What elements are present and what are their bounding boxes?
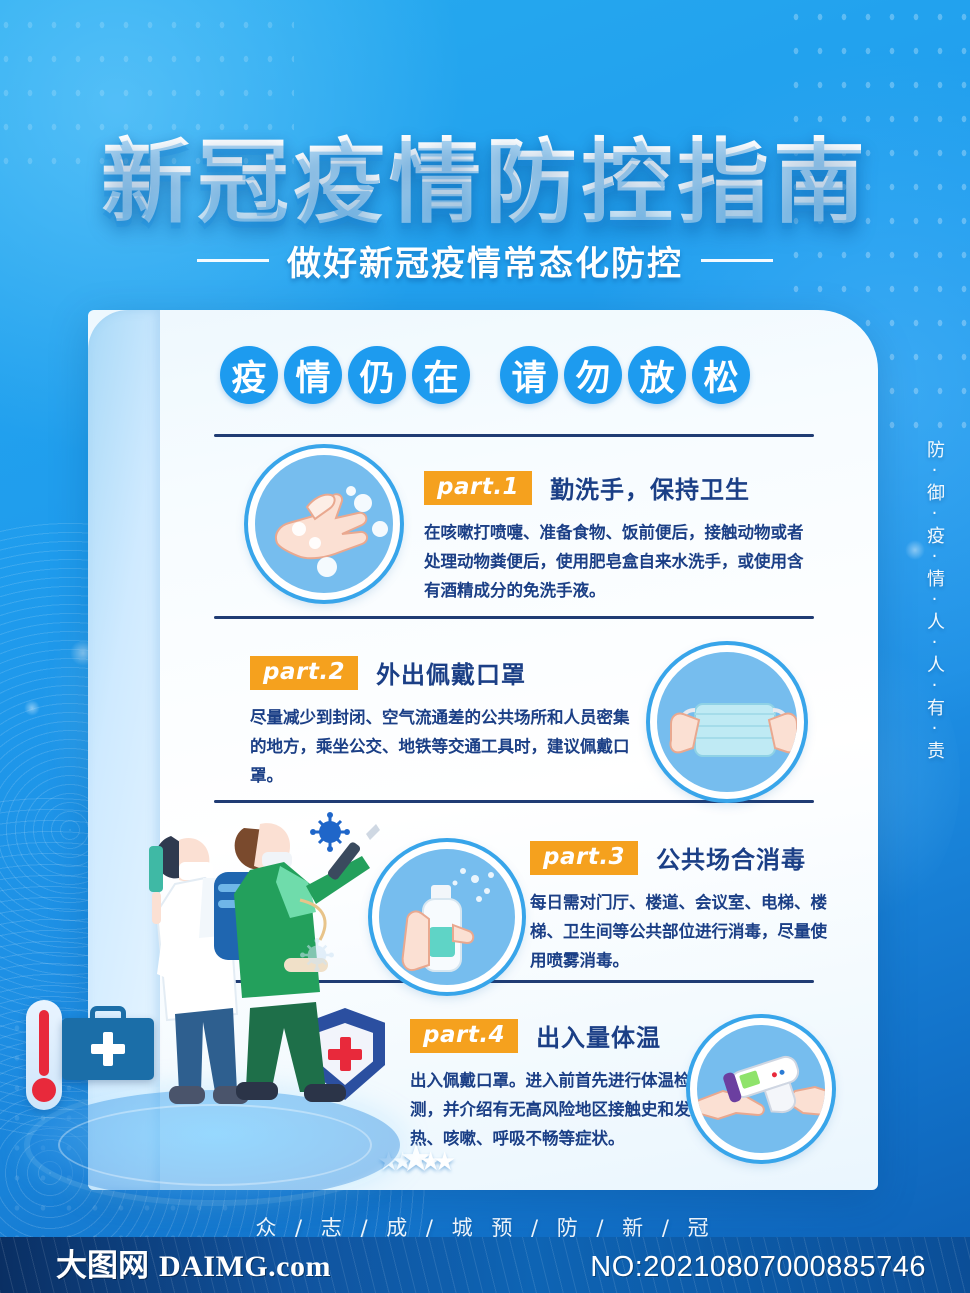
section-body: 每日需对门厅、楼道、会议室、电梯、楼梯、卫生间等公共部位进行消毒，尽量使用喷雾消… — [530, 889, 842, 976]
section-divider — [214, 616, 814, 619]
card-headline: 疫 情 仍 在 请 勿 放 松 — [0, 346, 970, 404]
washing-hands-icon — [248, 448, 400, 600]
headline-char: 请 — [500, 346, 558, 404]
page-subtitle: 做好新冠疫情常态化防控 — [287, 236, 683, 285]
headline-char: 松 — [692, 346, 750, 404]
section-part-2: part.2 外出佩戴口罩 尽量减少到封闭、空气流通差的公共场所和人员密集的地方… — [250, 655, 650, 791]
section-body: 出入佩戴口罩。进入前首先进行体温检测，并介绍有无高风险地区接触史和发热、咳嗽、呼… — [410, 1067, 720, 1154]
watermark-chinese: 大图网 — [56, 1240, 149, 1285]
serial-number: NO:20210807000885746 — [590, 1251, 926, 1284]
section-divider — [214, 800, 814, 803]
face-mask-icon — [650, 645, 804, 799]
part-tag: part.3 — [530, 841, 638, 875]
section-part-4: part.4 出入量体温 出入佩戴口罩。进入前首先进行体温检测，并介绍有无高风险… — [410, 1018, 720, 1154]
subtitle-rule-left — [197, 259, 269, 262]
headline-char: 在 — [412, 346, 470, 404]
part-tag: part.4 — [410, 1019, 518, 1053]
section-header: part.3 公共场合消毒 — [530, 840, 860, 875]
site-watermark: 大图网 DAIMG.com — [56, 1240, 331, 1285]
forehead-thermometer-icon — [690, 1018, 832, 1160]
thermometer-icon — [26, 1000, 62, 1110]
headline-char: 放 — [628, 346, 686, 404]
part-tag: part.1 — [424, 471, 532, 505]
poster-root: 新冠疫情防控指南 做好新冠疫情常态化防控 疫 情 仍 在 请 勿 放 松 — [0, 0, 970, 1293]
page-title: 新冠疫情防控指南 — [0, 108, 970, 241]
sanitation-worker-character — [188, 808, 418, 1138]
subtitle-row: 做好新冠疫情常态化防控 — [0, 236, 970, 285]
headline-char: 疫 — [220, 346, 278, 404]
headline-char: 仍 — [348, 346, 406, 404]
part-tag: part.2 — [250, 656, 358, 690]
section-header: part.4 出入量体温 — [410, 1018, 720, 1053]
section-divider — [214, 434, 814, 437]
section-header: part.1 勤洗手，保持卫生 — [424, 470, 824, 505]
section-body: 在咳嗽打喷嚏、准备食物、饭前便后，接触动物或者处理动物粪便后，使用肥皂盒自来水洗… — [424, 519, 819, 606]
section-title: 勤洗手，保持卫生 — [550, 470, 750, 505]
side-vertical-slogan: 防·御·疫·情·人·人·有·责 — [922, 440, 948, 761]
virus-particle-icon — [310, 812, 350, 852]
section-part-1: part.1 勤洗手，保持卫生 在咳嗽打喷嚏、准备食物、饭前便后，接触动物或者处… — [424, 470, 824, 606]
virus-particle-faded-icon — [300, 938, 334, 972]
section-body: 尽量减少到封闭、空气流通差的公共场所和人员密集的地方，乘坐公交、地铁等交通工具时… — [250, 704, 645, 791]
headline-char: 情 — [284, 346, 342, 404]
section-title: 公共场合消毒 — [656, 840, 806, 875]
section-part-3: part.3 公共场合消毒 每日需对门厅、楼道、会议室、电梯、楼梯、卫生间等公共… — [530, 840, 860, 976]
section-header: part.2 外出佩戴口罩 — [250, 655, 650, 690]
watermark-domain: DAIMG.com — [159, 1250, 331, 1284]
section-title: 外出佩戴口罩 — [376, 655, 526, 690]
subtitle-rule-right — [701, 259, 773, 262]
headline-char: 勿 — [564, 346, 622, 404]
section-title: 出入量体温 — [536, 1018, 661, 1053]
bokeh-dot-2 — [24, 700, 40, 716]
